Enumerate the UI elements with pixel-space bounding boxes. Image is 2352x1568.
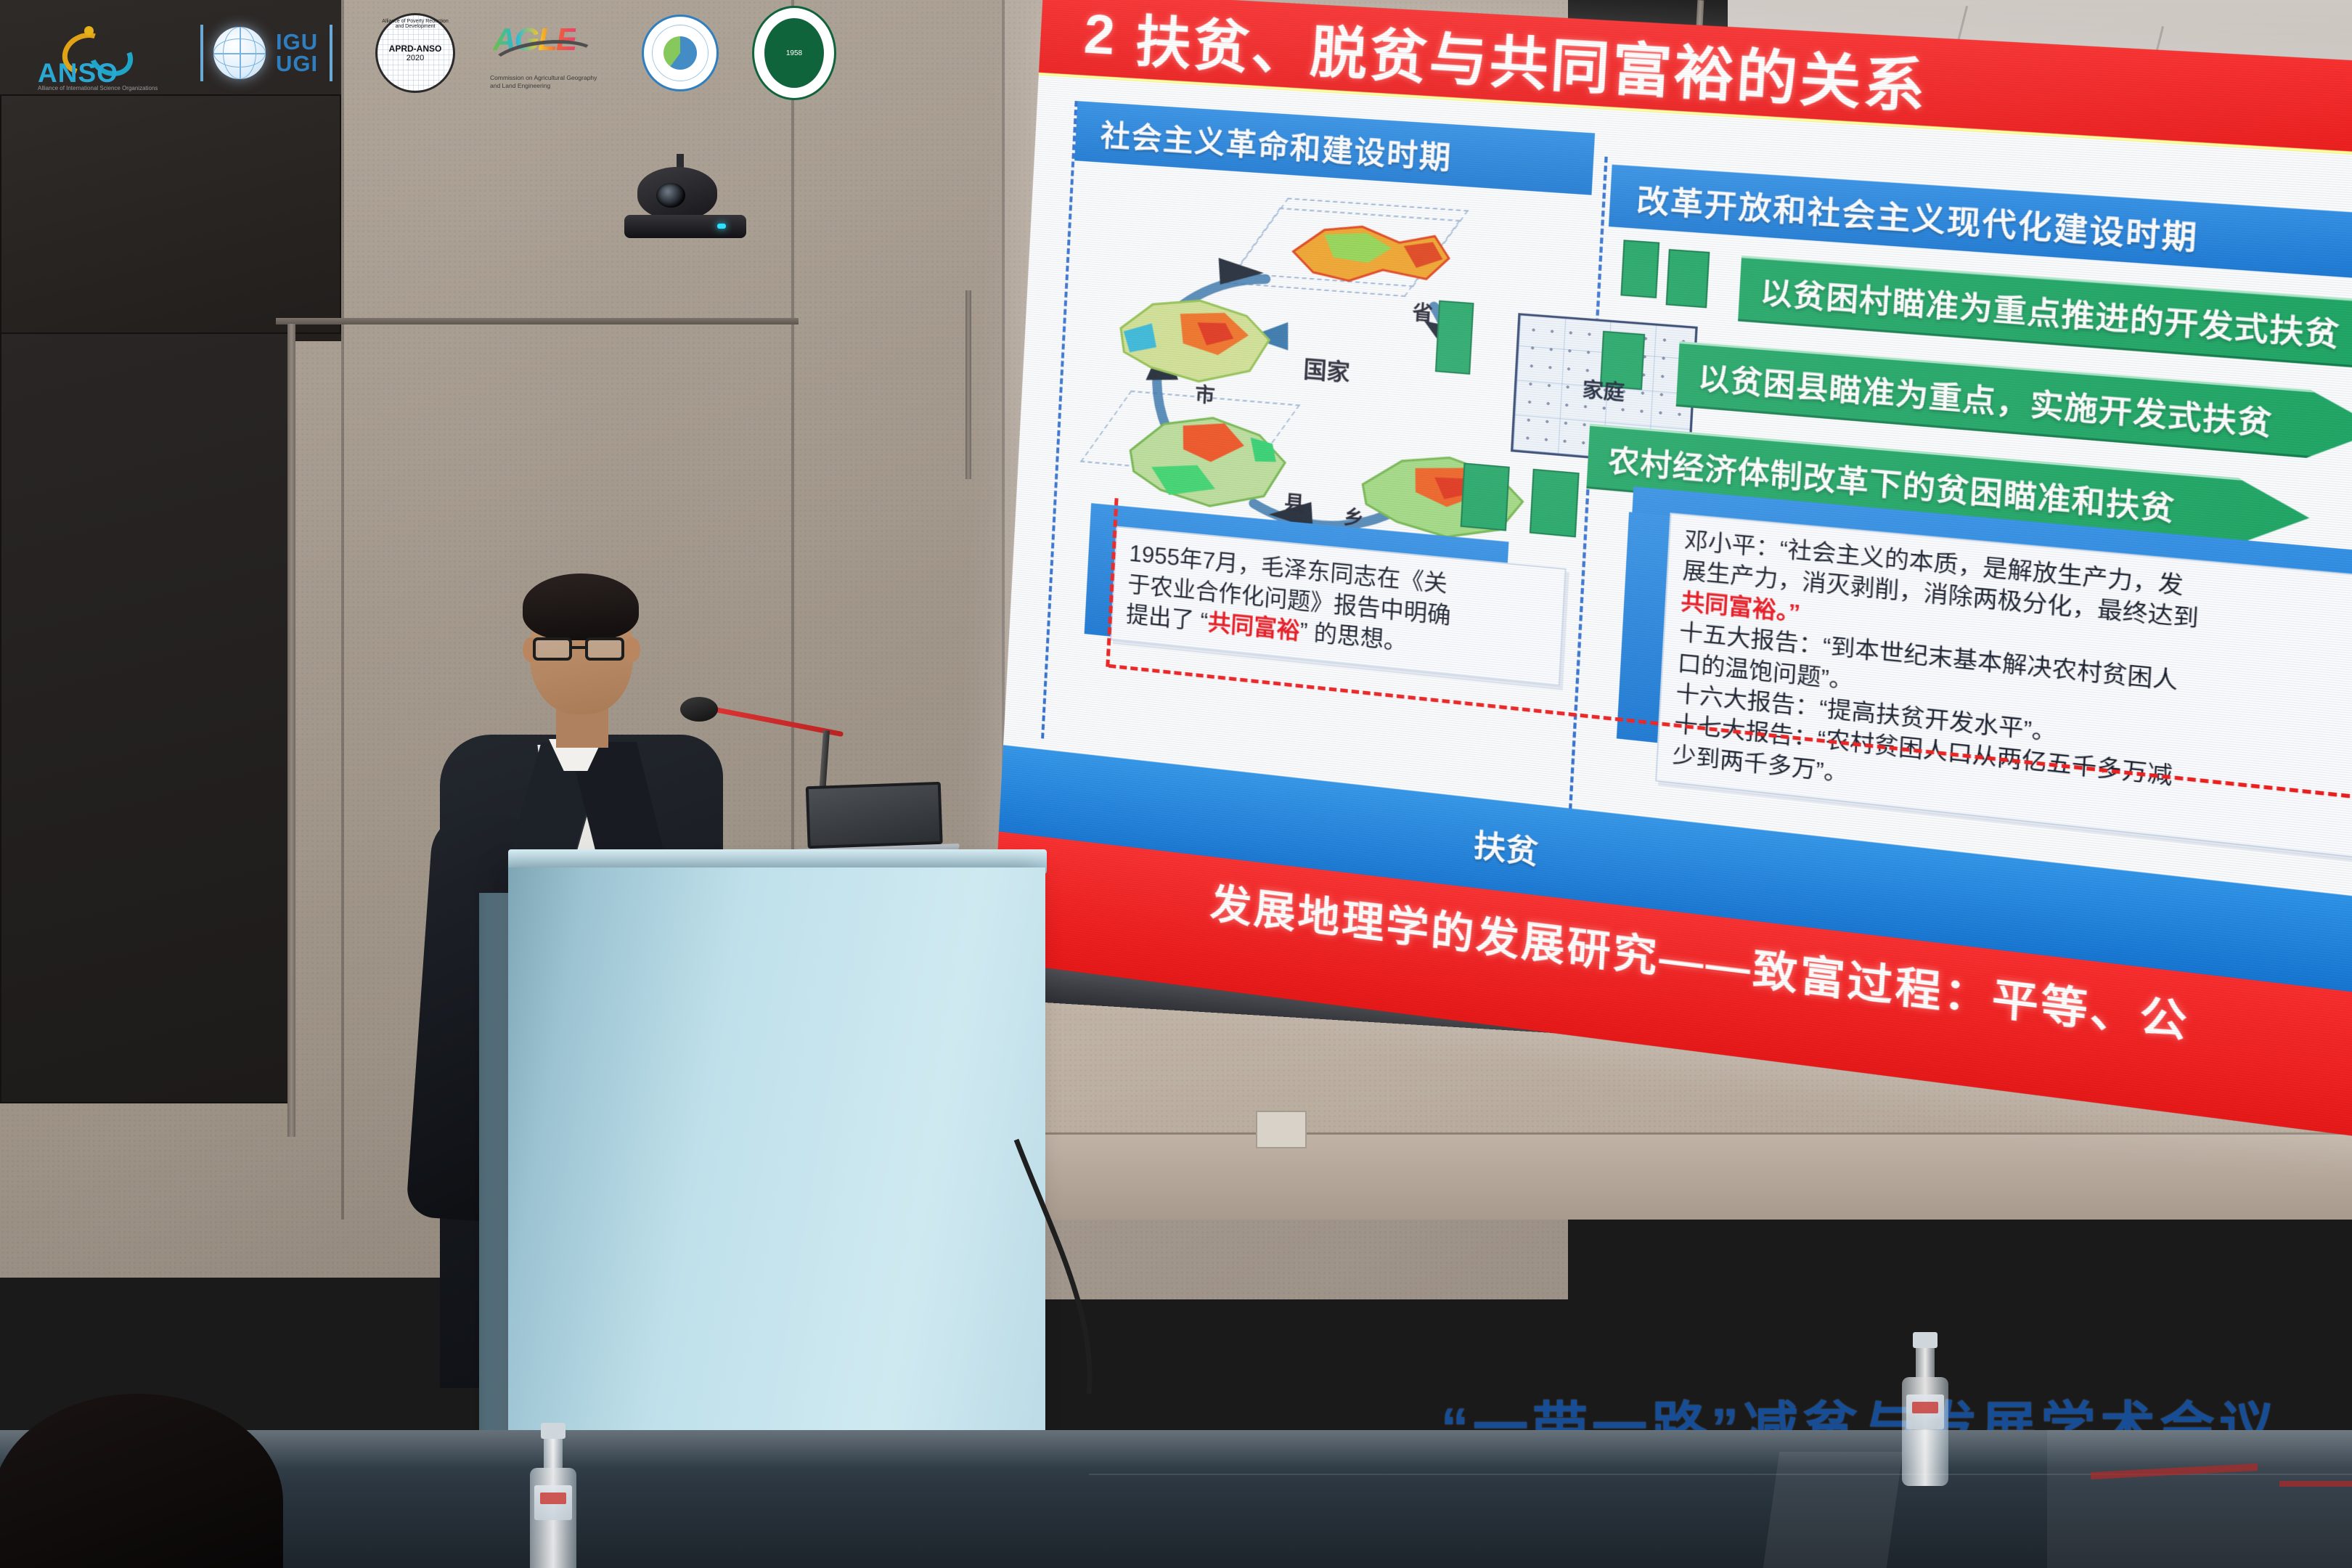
projection-screen: 2 扶贫、脱贫与共同富裕的关系 社会主义革命和建设时期 改革开放和社会主义现代化…: [992, 0, 2352, 1147]
family-grid-label: 家庭: [1582, 373, 1625, 406]
cycle-label-county: 县: [1283, 486, 1305, 517]
igu-agle-logo: AGLE Commission on Agricultural Geograph…: [489, 13, 608, 93]
igu-line2: UGI: [276, 53, 318, 75]
aprd-seal-arc-text: Alliance of Poverty Reduction and Develo…: [377, 19, 453, 29]
anso-dot: [84, 26, 94, 36]
water-bottle-left[interactable]: [530, 1423, 576, 1568]
igsnrr-seal-inner: [652, 25, 709, 81]
camera-lens-icon: [656, 183, 685, 208]
slide-divider-left: [1041, 101, 1077, 739]
slide-column-header-2: 改革开放和社会主义现代化建设时期: [1609, 165, 2352, 280]
left-box-highlight: 共同富裕: [1207, 609, 1300, 644]
wall-display-panel-left: [0, 305, 290, 1103]
ningxia-seal-year: 1958: [786, 49, 802, 57]
table-reflection-line-2: [2047, 1430, 2352, 1568]
aprd-seal-year: 2020: [389, 54, 442, 62]
igu-ugi-logo: IGU UGI: [200, 13, 342, 93]
slide-column-header-1: 社会主义革命和建设时期: [1074, 101, 1595, 195]
igu-rule-left: [200, 25, 203, 81]
bottle-neck-2: [544, 1439, 563, 1468]
green-block-6: [1435, 301, 1474, 375]
bottle-label-red-mark-2: [540, 1493, 566, 1504]
igsnrr-cas-seal: [642, 15, 719, 91]
bottle-body: [1902, 1377, 1948, 1486]
slide-title-number: 2: [1082, 2, 1119, 68]
wall-conduit-vertical: [287, 324, 295, 1137]
igu-rule-right: [330, 25, 332, 81]
camera-mount: [624, 215, 746, 238]
ningxia-university-seal: 1958: [752, 6, 836, 100]
anso-logo: ANSO Alliance of International Science O…: [22, 13, 167, 93]
audience-member-head: [0, 1394, 283, 1568]
ningxia-seal-core: 1958: [764, 18, 824, 88]
cycle-label-national: 国家: [1303, 350, 1351, 387]
anso-subtitle: Alliance of International Science Organi…: [38, 85, 165, 92]
igsnrr-seal-mark: [663, 36, 697, 70]
igu-wordmark: IGU UGI: [276, 31, 318, 75]
footer-label-fupin: 扶贫: [1473, 820, 1540, 873]
floor-cable: [1002, 1132, 1437, 1437]
agle-subtitle: Commission on Agricultural Geography and…: [490, 74, 606, 89]
bottle-neck: [1916, 1348, 1935, 1377]
igu-line1: IGU: [276, 31, 318, 53]
aprd-seal-center-text: APRD-ANSO: [389, 44, 442, 54]
camera-led-indicator: [717, 224, 726, 229]
bottle-label-red-mark: [1912, 1402, 1938, 1413]
water-bottle-right[interactable]: [1902, 1332, 1948, 1486]
middle-text-box: 邓小平：“社会主义的本质，是解放生产力，发 展生产力，消灭剥削，消除两极分化，最…: [1655, 513, 2352, 859]
glasses-lens-right-icon: [585, 637, 624, 661]
bottle-cap-2: [541, 1423, 565, 1439]
bottle-cap: [1913, 1332, 1937, 1348]
green-block-1: [1620, 240, 1659, 298]
agle-subtitle-line2: and Land Engineering: [490, 82, 606, 90]
glasses-lens-left-icon: [533, 637, 572, 661]
wall-display-panel-upper: [0, 94, 341, 334]
speaker-hair: [523, 573, 639, 640]
glasses-bridge: [571, 646, 585, 649]
table-object-reflection: [1763, 1452, 1903, 1568]
sponsor-logo-bar: ANSO Alliance of International Science O…: [22, 6, 958, 100]
wall-conduit-3: [965, 290, 971, 479]
ceiling-camera: [624, 167, 748, 254]
green-block-5: [1530, 469, 1580, 538]
cycle-label-province: 省: [1412, 296, 1434, 327]
foreground-table: [0, 1430, 2352, 1568]
green-block-2: [1666, 249, 1710, 309]
agle-subtitle-line1: Commission on Agricultural Geography: [490, 74, 606, 82]
table-red-strip-2: [2279, 1481, 2352, 1487]
screenshot-root: ANSO Alliance of International Science O…: [0, 0, 2352, 1568]
map-thumb-province: [1276, 205, 1469, 307]
globe-icon: [213, 27, 266, 79]
wall-conduit-horizontal: [276, 318, 799, 324]
microphone-head-icon: [680, 697, 718, 722]
presentation-slide: 2 扶贫、脱贫与共同富裕的关系 社会主义革命和建设时期 改革开放和社会主义现代化…: [992, 0, 2352, 1147]
anso-wordmark: ANSO: [38, 58, 118, 89]
aprd-anso-seal: Alliance of Poverty Reduction and Develo…: [375, 13, 455, 93]
speaker-ear-right: [624, 637, 640, 662]
cycle-label-city: 市: [1194, 378, 1215, 409]
wall-seam-1: [341, 0, 344, 1220]
green-block-4: [1461, 462, 1510, 531]
laptop-screen[interactable]: [806, 782, 943, 849]
